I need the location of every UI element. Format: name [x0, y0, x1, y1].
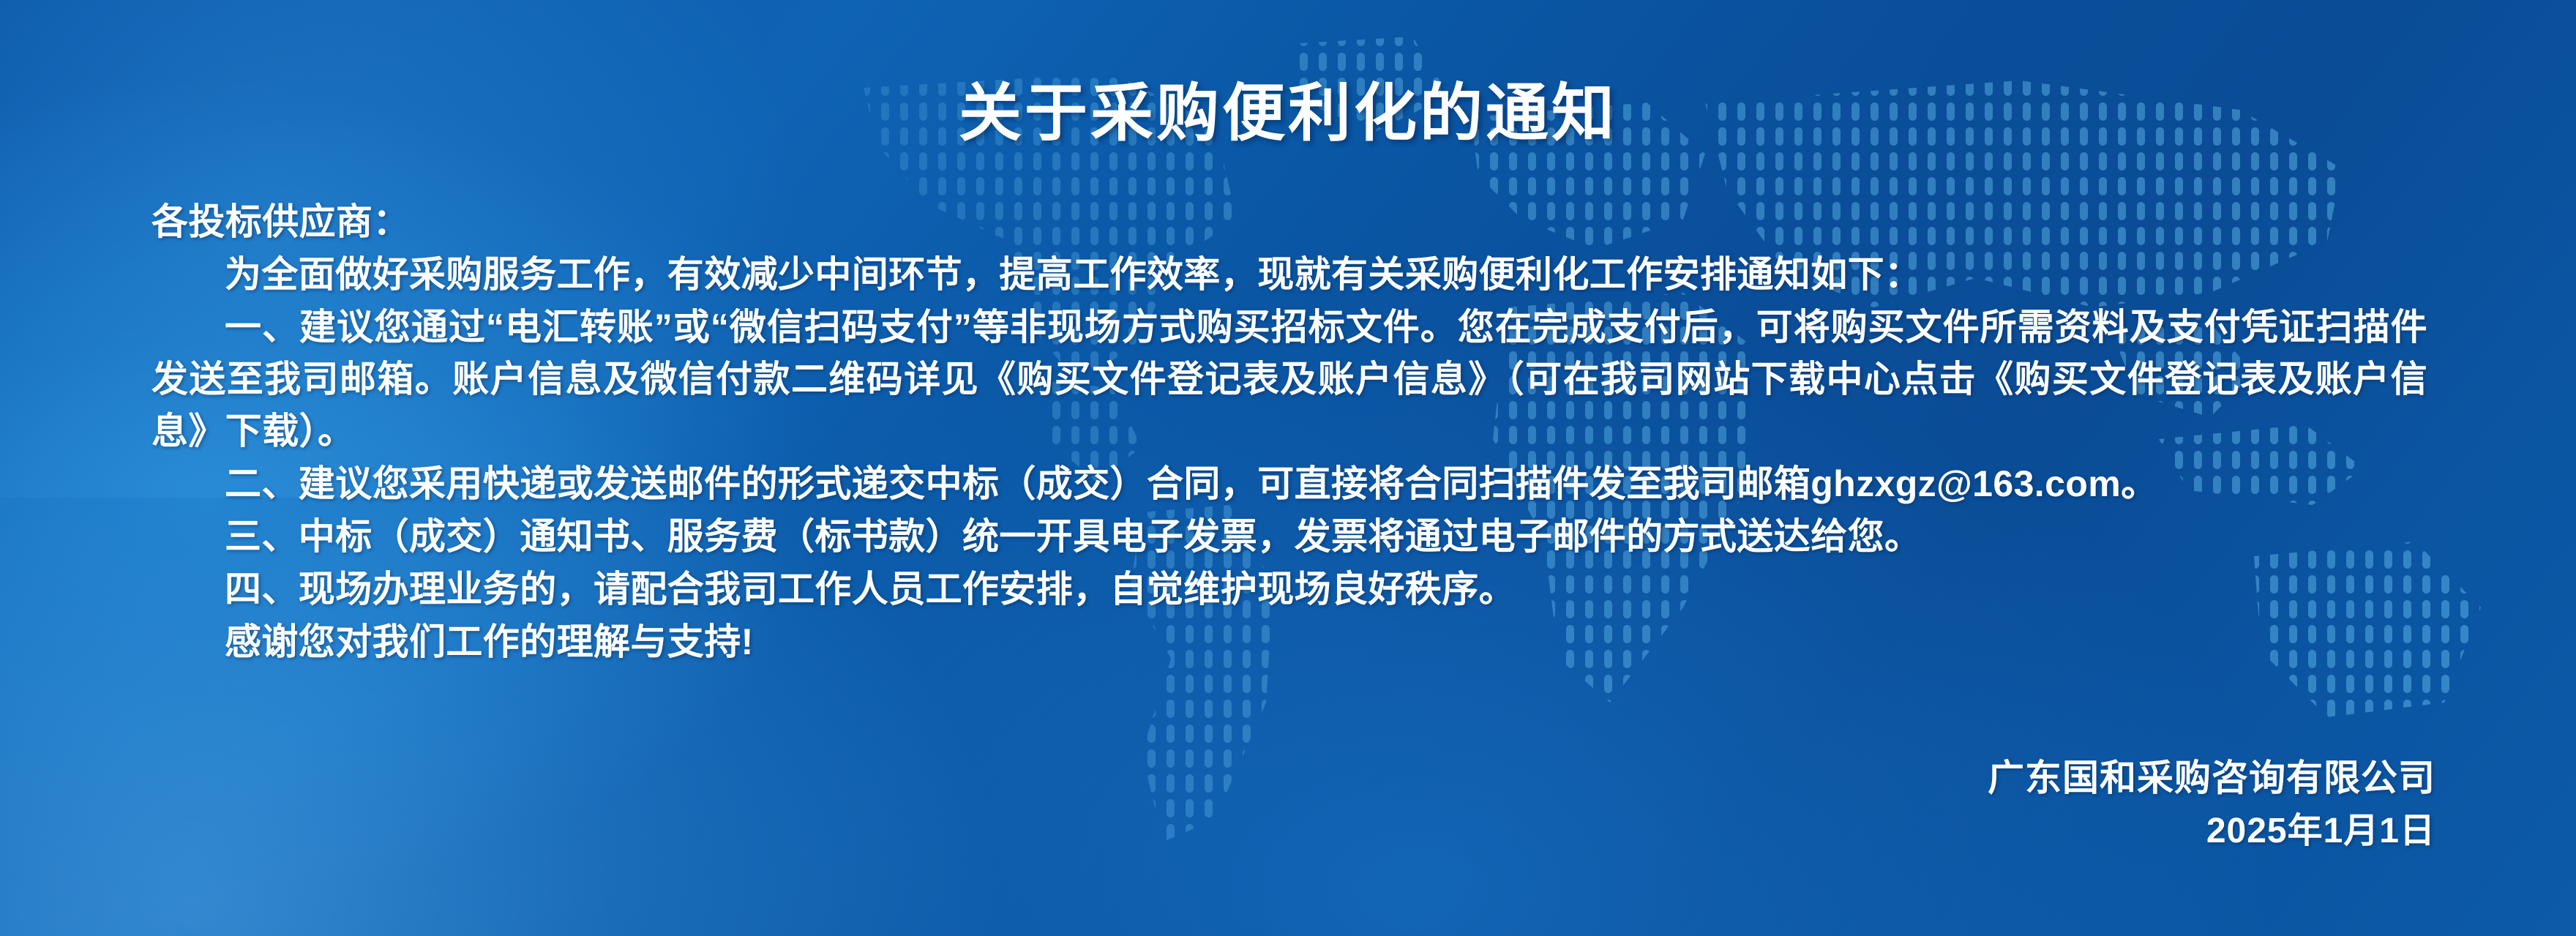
intro-paragraph: 为全面做好采购服务工作，有效减少中间环节，提高工作效率，现就有关采购便利化工作安… — [151, 249, 2427, 301]
signature-company: 广东国和采购咨询有限公司 — [1988, 751, 2435, 805]
closing-line: 感谢您对我们工作的理解与支持! — [151, 616, 2427, 668]
notice-title: 关于采购便利化的通知 — [0, 61, 2576, 153]
notice-banner: 关于采购便利化的通知 各投标供应商： 为全面做好采购服务工作，有效减少中间环节，… — [0, 0, 2576, 936]
notice-item-1: 一、建议您通过“电汇转账”或“微信扫码支付”等非现场方式购买招标文件。您在完成支… — [151, 302, 2427, 457]
salutation: 各投标供应商： — [151, 196, 2427, 248]
notice-item-4: 四、现场办理业务的，请配合我司工作人员工作安排，自觉维护现场良好秩序。 — [151, 564, 2427, 615]
signature-date: 2025年1月1日 — [1988, 805, 2435, 858]
notice-item-3: 三、中标（成交）通知书、服务费（标书款）统一开具电子发票，发票将通过电子邮件的方… — [151, 511, 2427, 563]
signature-block: 广东国和采购咨询有限公司 2025年1月1日 — [1988, 751, 2435, 858]
notice-content: 关于采购便利化的通知 各投标供应商： 为全面做好采购服务工作，有效减少中间环节，… — [0, 0, 2576, 936]
notice-body: 各投标供应商： 为全面做好采购服务工作，有效减少中间环节，提高工作效率，现就有关… — [151, 196, 2427, 669]
notice-item-2: 二、建议您采用快递或发送邮件的形式递交中标（成交）合同，可直接将合同扫描件发至我… — [151, 458, 2427, 510]
